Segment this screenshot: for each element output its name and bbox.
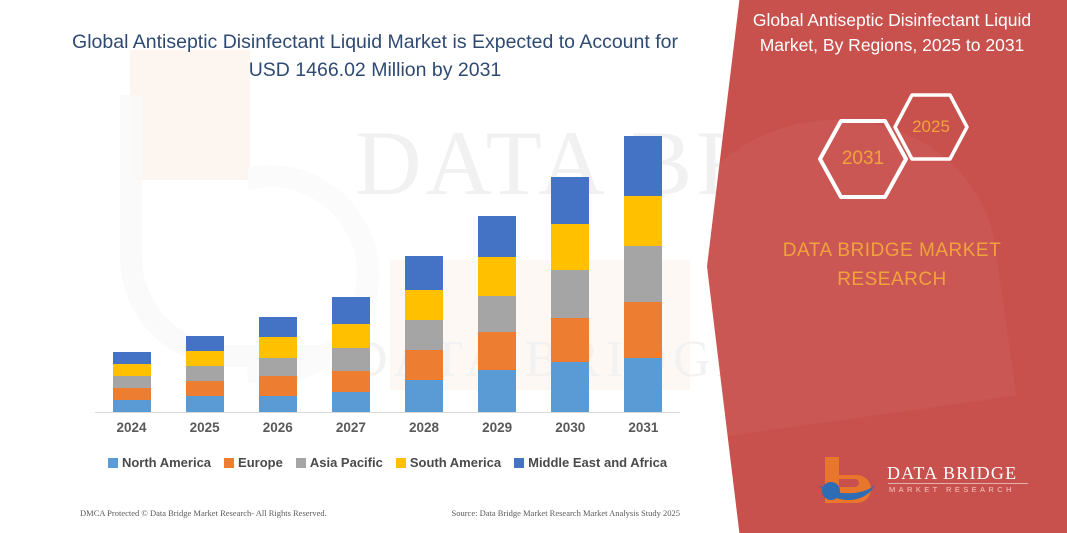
bar-column: [534, 120, 606, 412]
legend-swatch: [108, 458, 118, 468]
stacked-bar: [405, 256, 443, 412]
bar-segment: [478, 332, 516, 370]
panel-brand-name: DATA BRIDGE MARKET RESEARCH: [727, 236, 1057, 294]
hexagon-badge-2031-label: 2031: [842, 148, 884, 170]
bar-column: [388, 120, 460, 412]
legend-label: Asia Pacific: [310, 455, 383, 470]
bar-segment: [624, 246, 662, 302]
bar-column: [315, 120, 387, 412]
footer: DMCA Protected © Data Bridge Market Rese…: [80, 508, 680, 518]
hexagon-badge-2031: 2031: [817, 118, 909, 200]
bar-segment: [405, 380, 443, 412]
panel-title: Global Antiseptic Disinfectant Liquid Ma…: [727, 8, 1057, 58]
bar-segment: [551, 177, 589, 224]
legend-swatch: [224, 458, 234, 468]
bar-segment: [332, 297, 370, 324]
infographic-canvas: DATA BRIDGE DATA BRIDGE MARKET RESEARCH …: [0, 0, 1067, 533]
bar-column: [607, 120, 679, 412]
legend-item[interactable]: South America: [396, 455, 501, 470]
x-axis-label: 2024: [96, 420, 168, 435]
legend-swatch: [396, 458, 406, 468]
x-axis-label: 2029: [461, 420, 533, 435]
x-axis-labels: 20242025202620272028202920302031: [95, 420, 680, 435]
bar-segment: [405, 320, 443, 350]
bar-segment: [113, 364, 151, 376]
bar-segment: [624, 196, 662, 246]
bar-segment: [478, 216, 516, 257]
legend-item[interactable]: Middle East and Africa: [514, 455, 667, 470]
bar-segment: [624, 136, 662, 196]
chart-legend: North AmericaEuropeAsia PacificSouth Ame…: [95, 455, 680, 470]
bar-segment: [113, 376, 151, 388]
legend-label: Middle East and Africa: [528, 455, 667, 470]
footer-copyright: DMCA Protected © Data Bridge Market Rese…: [80, 508, 327, 518]
stacked-bar: [624, 136, 662, 412]
bar-segment: [332, 371, 370, 392]
stacked-bar: [478, 216, 516, 412]
bar-column: [169, 120, 241, 412]
bar-column: [461, 120, 533, 412]
stacked-bar: [113, 352, 151, 412]
bar-segment: [478, 296, 516, 332]
stacked-bar: [332, 297, 370, 412]
bar-segment: [186, 366, 224, 381]
x-axis-label: 2026: [242, 420, 314, 435]
legend-item[interactable]: Asia Pacific: [296, 455, 383, 470]
chart-title: Global Antiseptic Disinfectant Liquid Ma…: [60, 28, 690, 84]
footer-source: Source: Data Bridge Market Research Mark…: [451, 508, 680, 518]
bar-segment: [551, 270, 589, 318]
bar-segment: [551, 362, 589, 412]
bar-segment: [332, 324, 370, 348]
bar-segment: [113, 388, 151, 400]
bar-segment: [405, 350, 443, 380]
stacked-bar: [551, 177, 589, 412]
databridge-logo-mark: [817, 455, 879, 507]
bar-segment: [405, 290, 443, 320]
bar-segment: [551, 318, 589, 362]
bar-column: [242, 120, 314, 412]
legend-label: South America: [410, 455, 501, 470]
logo-text-main: DATA BRIDGE: [887, 463, 1017, 484]
bar-segment: [113, 400, 151, 412]
bar-segment: [186, 381, 224, 396]
logo-text-sub: MARKET RESEARCH: [889, 485, 1015, 494]
bar-segment: [551, 224, 589, 270]
bar-segment: [478, 370, 516, 412]
bar-segment: [259, 317, 297, 337]
legend-label: North America: [122, 455, 211, 470]
bar-segment: [405, 256, 443, 290]
legend-item[interactable]: Europe: [224, 455, 283, 470]
x-axis-line: [95, 412, 680, 413]
x-axis-label: 2027: [315, 420, 387, 435]
legend-label: Europe: [238, 455, 283, 470]
bar-segment: [332, 392, 370, 412]
bar-segment: [259, 358, 297, 376]
bar-column: [96, 120, 168, 412]
x-axis-label: 2030: [534, 420, 606, 435]
bar-segment: [624, 302, 662, 358]
bar-segment: [478, 257, 516, 296]
bar-segment: [113, 352, 151, 364]
legend-item[interactable]: North America: [108, 455, 211, 470]
stacked-bar: [259, 317, 297, 412]
bar-segment: [259, 337, 297, 358]
x-axis-label: 2028: [388, 420, 460, 435]
stacked-bar-chart: [95, 120, 680, 412]
hexagon-badge-2025-label: 2025: [912, 117, 950, 137]
bar-segment: [259, 376, 297, 396]
logo-divider: [888, 483, 1028, 484]
x-axis-label: 2031: [607, 420, 679, 435]
hexagon-group: 2025 2031: [737, 90, 1067, 200]
legend-swatch: [514, 458, 524, 468]
bar-segment: [332, 348, 370, 371]
bar-segment: [186, 336, 224, 351]
x-axis-label: 2025: [169, 420, 241, 435]
legend-swatch: [296, 458, 306, 468]
side-panel: Global Antiseptic Disinfectant Liquid Ma…: [707, 0, 1067, 533]
bar-segment: [624, 358, 662, 412]
stacked-bar: [186, 336, 224, 412]
bar-segment: [186, 351, 224, 366]
bar-segment: [186, 396, 224, 412]
company-logo: DATA BRIDGE MARKET RESEARCH: [817, 455, 1032, 513]
bar-segment: [259, 396, 297, 412]
